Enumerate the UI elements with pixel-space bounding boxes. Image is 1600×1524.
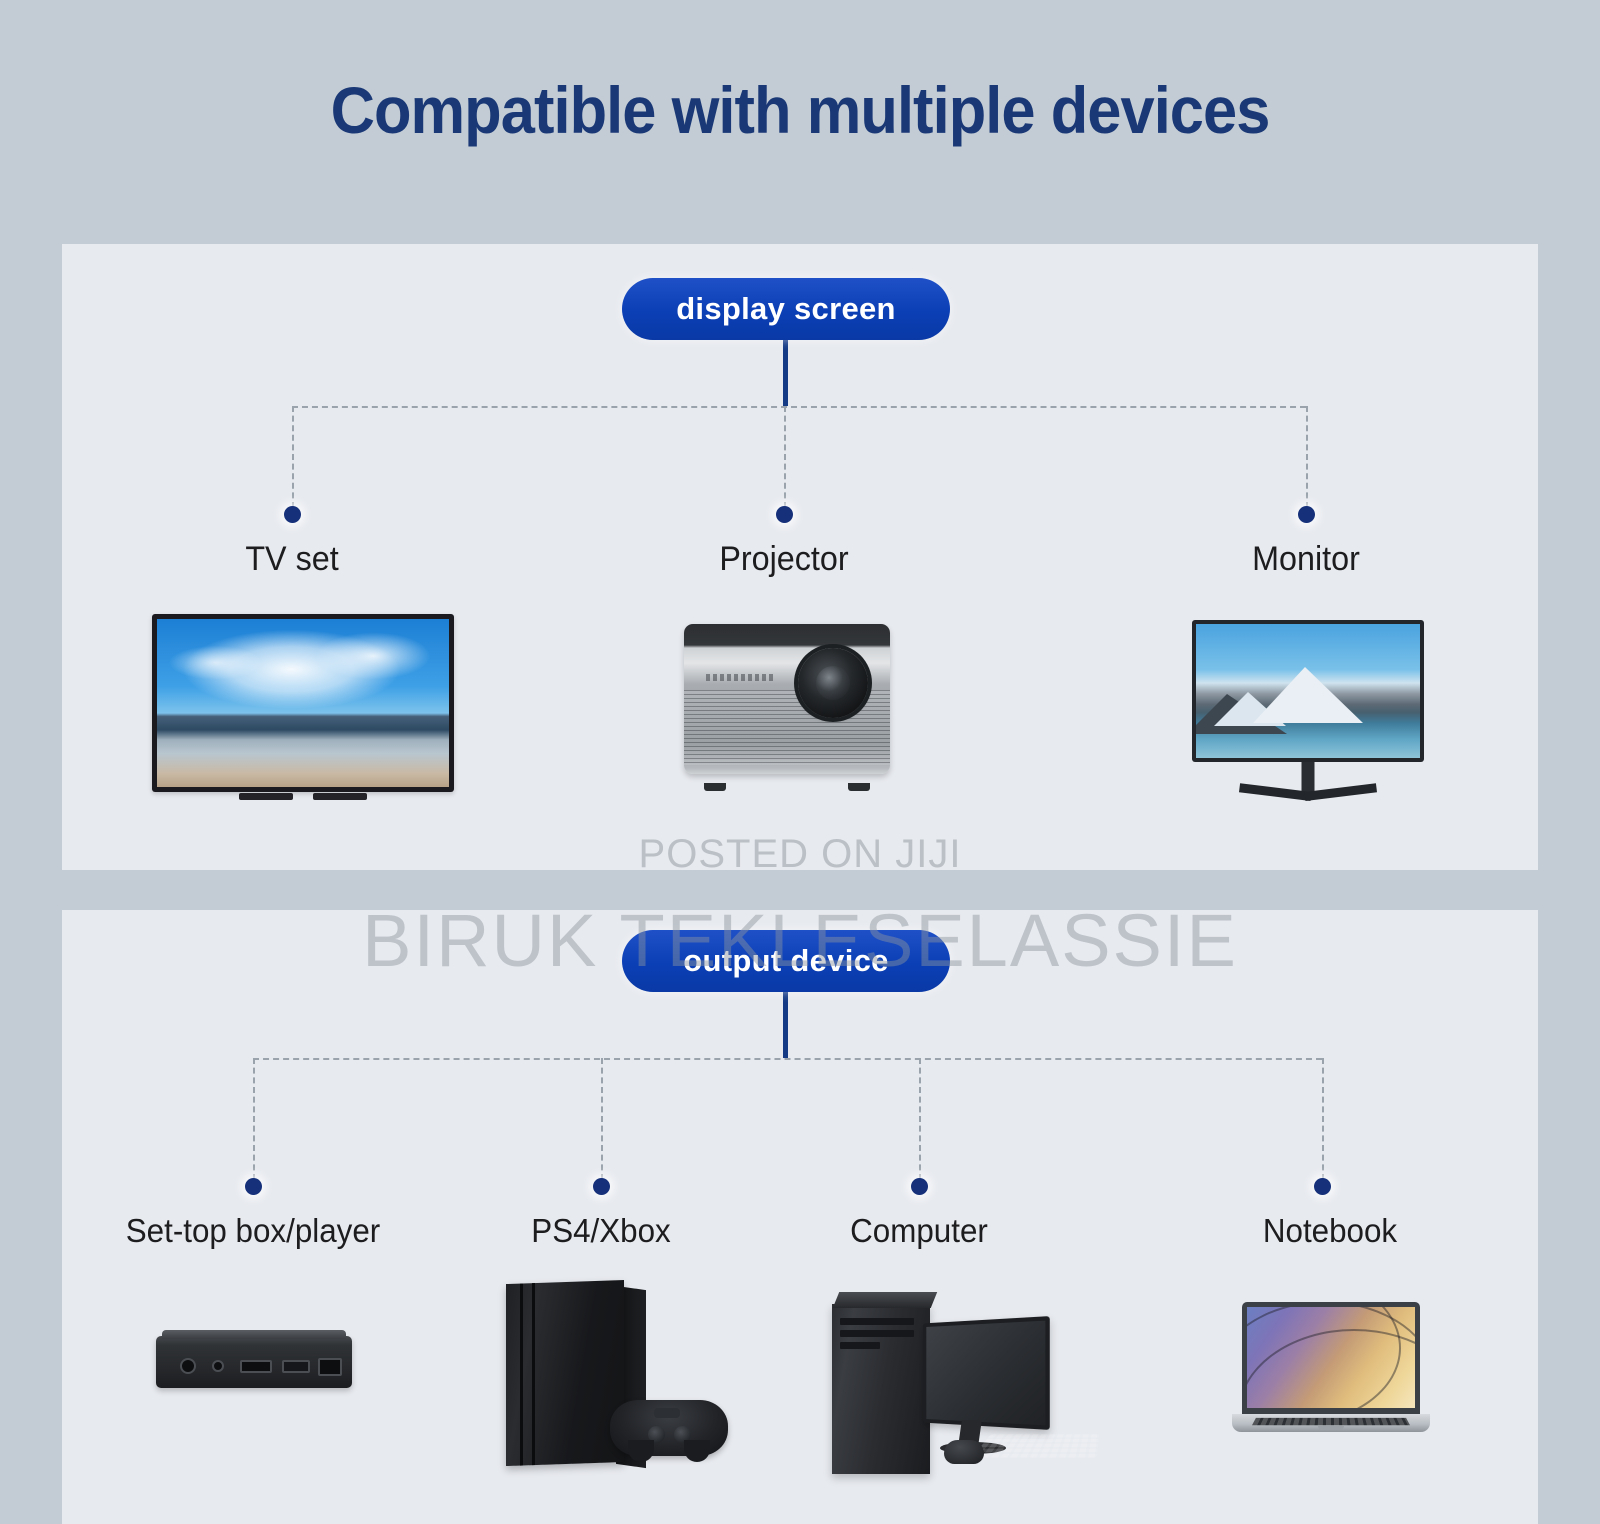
page-title: Compatible with multiple devices: [56, 72, 1544, 148]
tv-screen: [157, 619, 449, 787]
pc-tower: [832, 1304, 930, 1474]
node-label-tv-set: TV set: [150, 540, 435, 579]
display-screen-branch-monitor: [1306, 406, 1308, 508]
display-screen-branch-horizontal: [292, 406, 1306, 408]
laptop-keyboard: [1252, 1418, 1410, 1425]
monitor-icon: [1192, 620, 1424, 810]
desktop-computer-icon: [832, 1290, 1102, 1480]
set-top-box-lid: [162, 1330, 346, 1339]
monitor-base: [1239, 792, 1377, 804]
display-screen-stem: [783, 340, 788, 406]
projector-icon: [684, 624, 890, 784]
console-body: [506, 1280, 624, 1466]
set-top-box-icon: [156, 1336, 352, 1398]
display-screen-branch-projector: [784, 406, 786, 508]
output-device-node-dot-settop: [245, 1178, 262, 1195]
node-label-set-top-box: Set-top box/player: [82, 1212, 424, 1250]
projector-brand-mark: [706, 674, 776, 681]
output-device-stem: [783, 992, 788, 1058]
set-top-box-body: [156, 1336, 352, 1388]
monitor-frame: [1192, 620, 1424, 762]
hdmi-port: [240, 1360, 272, 1373]
laptop-icon: [1232, 1302, 1430, 1442]
mouse: [944, 1440, 984, 1464]
television-icon: [152, 614, 454, 810]
output-device-branch-notebook: [1322, 1058, 1324, 1180]
power-port: [180, 1358, 196, 1374]
laptop-lid: [1242, 1302, 1420, 1416]
tv-stand: [239, 790, 367, 800]
keyboard: [971, 1434, 1099, 1458]
usb-port: [282, 1360, 310, 1373]
display-screen-badge[interactable]: display screen: [622, 278, 950, 340]
game-console-icon: [506, 1282, 736, 1482]
tv-frame: [152, 614, 454, 792]
monitor-screen: [1196, 624, 1420, 758]
output-device-badge[interactable]: output device: [622, 930, 950, 992]
laptop-trackpad-notch: [1318, 1426, 1344, 1430]
game-controller: [610, 1400, 728, 1456]
display-screen-node-dot-projector: [776, 506, 793, 523]
output-device-branch-console: [601, 1058, 603, 1180]
laptop-screen: [1247, 1307, 1415, 1408]
output-device-node-dot-computer: [911, 1178, 928, 1195]
node-label-computer: Computer: [777, 1212, 1062, 1250]
output-device-branch-computer: [919, 1058, 921, 1180]
pc-monitor: [923, 1316, 1050, 1430]
output-device-node-dot-notebook: [1314, 1178, 1331, 1195]
output-device-branch-horizontal: [253, 1058, 1322, 1060]
projector-lens: [798, 648, 868, 718]
output-device-node-dot-console: [593, 1178, 610, 1195]
ethernet-port: [318, 1358, 342, 1376]
node-label-notebook: Notebook: [1188, 1212, 1473, 1250]
output-device-branch-settop: [253, 1058, 255, 1180]
display-screen-node-dot-monitor: [1298, 506, 1315, 523]
node-label-monitor: Monitor: [1164, 540, 1449, 579]
node-label-ps4-xbox: PS4/Xbox: [459, 1212, 744, 1250]
projector-body: [684, 624, 890, 774]
display-screen-node-dot-tv: [284, 506, 301, 523]
audio-jack-port: [212, 1360, 224, 1372]
display-screen-branch-tv: [292, 406, 294, 508]
node-label-projector: Projector: [642, 540, 927, 579]
